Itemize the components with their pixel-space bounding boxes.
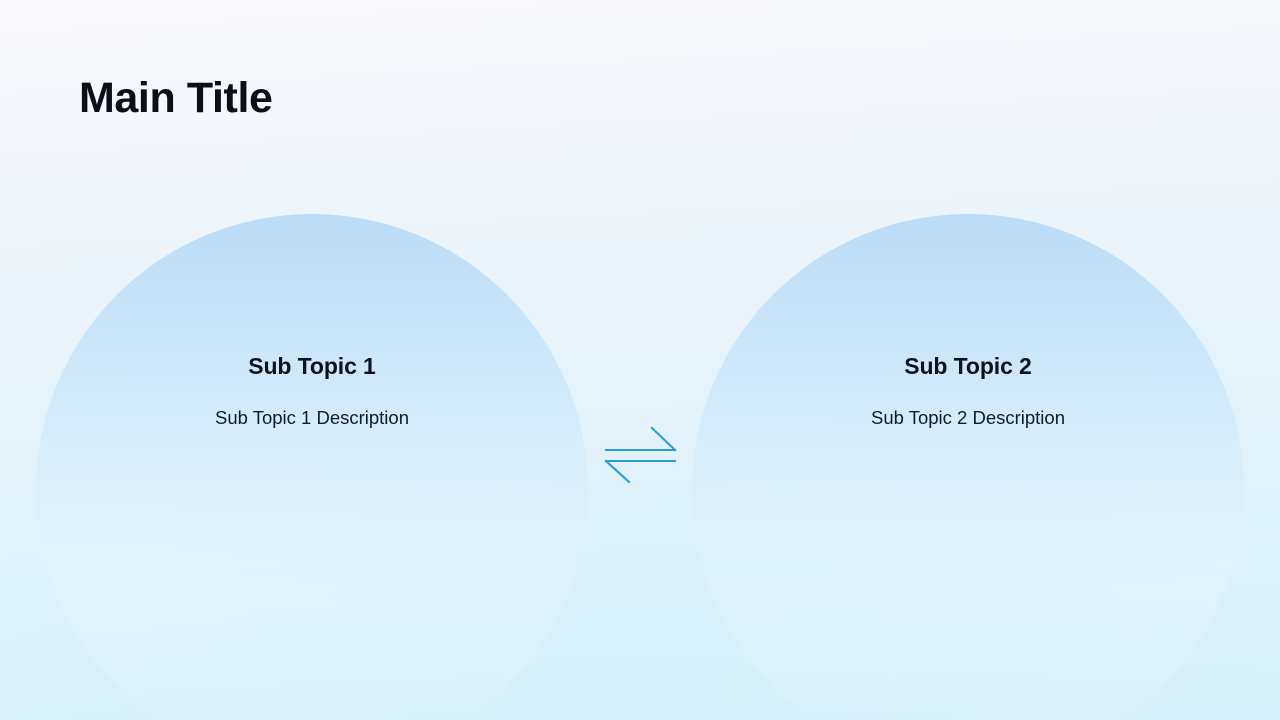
topic-block-right: Sub Topic 2 Sub Topic 2 Description <box>688 352 1248 430</box>
exchange-arrows-glyph <box>598 420 682 480</box>
topic-block-left: Sub Topic 1 Sub Topic 1 Description <box>32 352 592 430</box>
topic-heading-2: Sub Topic 2 <box>688 352 1248 381</box>
topic-description-1: Sub Topic 1 Description <box>32 406 592 430</box>
topic-circle-right <box>692 214 1244 720</box>
page-title: Main Title <box>79 74 273 123</box>
slide-canvas: Main Title Sub Topic 1 Sub Topic 1 Descr… <box>0 0 1280 720</box>
topic-description-2: Sub Topic 2 Description <box>688 406 1248 430</box>
arrow-left-head <box>606 461 629 482</box>
background-wash <box>0 475 1280 720</box>
arrow-right-head <box>652 428 675 450</box>
exchange-arrows-icon <box>598 420 682 480</box>
topic-circle-left <box>36 214 588 720</box>
topic-heading-1: Sub Topic 1 <box>32 352 592 381</box>
